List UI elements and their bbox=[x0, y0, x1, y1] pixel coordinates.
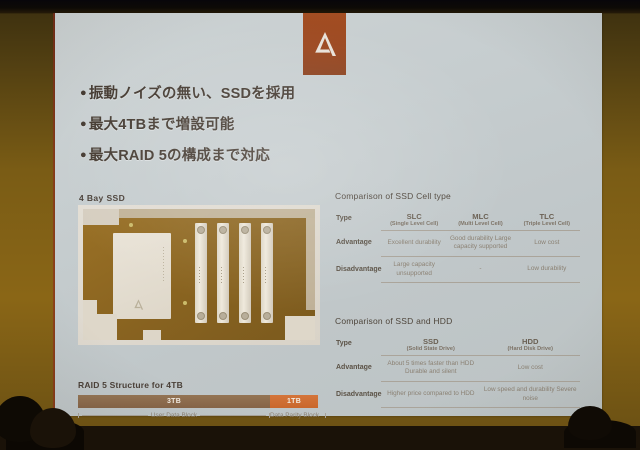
chassis-bottom-left bbox=[83, 314, 117, 340]
raid-segment-user-data: 3TB bbox=[78, 395, 270, 408]
table-cell: Low cost bbox=[514, 230, 580, 256]
rule bbox=[335, 407, 580, 408]
column-header: SLC (Single Level Cell) bbox=[381, 208, 447, 230]
row-label: Advantage bbox=[335, 355, 381, 381]
column-header: HDD (Hard Disk Drive) bbox=[481, 333, 581, 355]
column-subtitle: (Multi Level Cell) bbox=[449, 221, 511, 229]
table-cell: Low speed and durability Severe noise bbox=[481, 382, 581, 408]
screw-icon bbox=[129, 223, 133, 227]
column-name: TLC bbox=[539, 212, 554, 221]
table-row: Advantage About 5 times faster than HDD … bbox=[335, 355, 580, 381]
chassis-bottom-right bbox=[285, 316, 315, 340]
column-subtitle: (Hard Disk Drive) bbox=[483, 346, 579, 354]
column-name: SLC bbox=[407, 212, 422, 221]
legend-label: User Data Block bbox=[151, 412, 197, 419]
column-header: TLC (Triple Level Cell) bbox=[514, 208, 580, 230]
bullet-text: 振動ノイズの無い、SSDを採用 bbox=[89, 85, 295, 103]
table-header-row: Type SSD (Solid State Drive) HDD (Hard D… bbox=[335, 333, 580, 355]
brand-logo-a bbox=[303, 13, 346, 75]
raid-title: RAID 5 Structure for 4TB bbox=[78, 380, 323, 390]
raid-legend-user-data: User Data Block bbox=[78, 412, 270, 419]
row-header-label: Type bbox=[335, 208, 381, 230]
chassis-interior bbox=[83, 209, 315, 340]
chassis-left-notch bbox=[83, 209, 119, 225]
table-cell: Excellent durability bbox=[381, 230, 447, 256]
bullet-list: ● 振動ノイズの無い、SSDを採用 ● 最大4TBまで増設可能 ● 最大RAID… bbox=[80, 85, 410, 178]
column-name: MLC bbox=[472, 212, 488, 221]
chassis-bottom-tab bbox=[143, 330, 161, 340]
drive-rail bbox=[195, 223, 207, 323]
chassis-right-strip bbox=[306, 218, 315, 310]
ceiling-shadow bbox=[0, 0, 640, 13]
projected-slide: ● 振動ノイズの無い、SSDを採用 ● 最大4TBまで増設可能 ● 最大RAID… bbox=[55, 13, 602, 416]
bullet-text: 最大RAID 5の構成まで対応 bbox=[89, 147, 270, 165]
column-name: HDD bbox=[522, 337, 538, 346]
table-cell: Low durability bbox=[514, 257, 580, 283]
table-title: Comparison of SSD and HDD bbox=[335, 316, 580, 326]
drive-rail bbox=[239, 223, 251, 323]
bullet-item: ● 最大4TBまで増設可能 bbox=[80, 116, 410, 134]
row-label: Disadvantage bbox=[335, 382, 381, 408]
table-cell: Good durability Large capacity supported bbox=[447, 230, 513, 256]
table-cell: About 5 times faster than HDD Durable an… bbox=[381, 355, 481, 381]
row-label: Disadvantage bbox=[335, 257, 381, 283]
column-subtitle: (Single Level Cell) bbox=[383, 221, 445, 229]
column-header: MLC (Multi Level Cell) bbox=[447, 208, 513, 230]
panel-logo-a-icon bbox=[133, 298, 144, 314]
dark-room-surround: ● 振動ノイズの無い、SSDを採用 ● 最大4TBまで増設可能 ● 最大RAID… bbox=[0, 0, 640, 426]
raid5-structure-diagram: RAID 5 Structure for 4TB 3TB 1TB User Da… bbox=[78, 380, 323, 419]
row-label: Advantage bbox=[335, 230, 381, 256]
comparison-table: Type SSD (Solid State Drive) HDD (Hard D… bbox=[335, 333, 580, 408]
audience-head-silhouette bbox=[30, 408, 76, 448]
table-cell: - bbox=[447, 257, 513, 283]
screw-icon bbox=[183, 301, 187, 305]
row-header-label: Type bbox=[335, 333, 381, 355]
table-ssd-vs-hdd: Comparison of SSD and HDD Type SSD (Soli… bbox=[335, 316, 580, 408]
bullet-item: ● 振動ノイズの無い、SSDを採用 bbox=[80, 85, 410, 103]
raid-legend-parity: Data Parity Block bbox=[270, 412, 326, 419]
table-title: Comparison of SSD Cell type bbox=[335, 191, 580, 201]
table-ssd-cell-type: Comparison of SSD Cell type Type SLC (Si… bbox=[335, 191, 580, 283]
table-row: Disadvantage Higher price compared to HD… bbox=[335, 382, 580, 408]
drive-rail bbox=[217, 223, 229, 323]
bullet-marker-icon: ● bbox=[80, 116, 87, 134]
column-subtitle: (Triple Level Cell) bbox=[516, 221, 578, 229]
column-name: SSD bbox=[423, 337, 439, 346]
raid-bar: 3TB 1TB bbox=[78, 395, 318, 408]
table-row: Disadvantage Large capacity unsupported … bbox=[335, 257, 580, 283]
bullet-marker-icon: ● bbox=[80, 147, 87, 165]
rule bbox=[335, 282, 580, 283]
ssd-chassis-photo bbox=[78, 205, 320, 345]
bullet-marker-icon: ● bbox=[80, 85, 87, 103]
comparison-table: Type SLC (Single Level Cell) MLC (Multi … bbox=[335, 208, 580, 283]
legend-label: Data Parity Block bbox=[270, 412, 319, 419]
raid-segment-parity: 1TB bbox=[270, 395, 318, 408]
bullet-item: ● 最大RAID 5の構成まで対応 bbox=[80, 147, 410, 165]
drive-rail bbox=[261, 223, 273, 323]
table-row: Advantage Excellent durability Good dura… bbox=[335, 230, 580, 256]
raid-legend: User Data Block Data Parity Block bbox=[78, 412, 318, 419]
chassis-panel bbox=[113, 233, 171, 319]
column-subtitle: (Solid State Drive) bbox=[383, 346, 479, 354]
table-cell: Low cost bbox=[481, 355, 581, 381]
panel-label-texture bbox=[163, 247, 164, 281]
table-cell: Large capacity unsupported bbox=[381, 257, 447, 283]
column-header: SSD (Solid State Drive) bbox=[381, 333, 481, 355]
photo-caption: 4 Bay SSD bbox=[79, 193, 125, 203]
table-header-row: Type SLC (Single Level Cell) MLC (Multi … bbox=[335, 208, 580, 230]
table-cell: Higher price compared to HDD bbox=[381, 382, 481, 408]
screw-icon bbox=[183, 239, 187, 243]
bullet-text: 最大4TBまで増設可能 bbox=[89, 116, 235, 134]
audience-head-silhouette bbox=[568, 406, 612, 440]
